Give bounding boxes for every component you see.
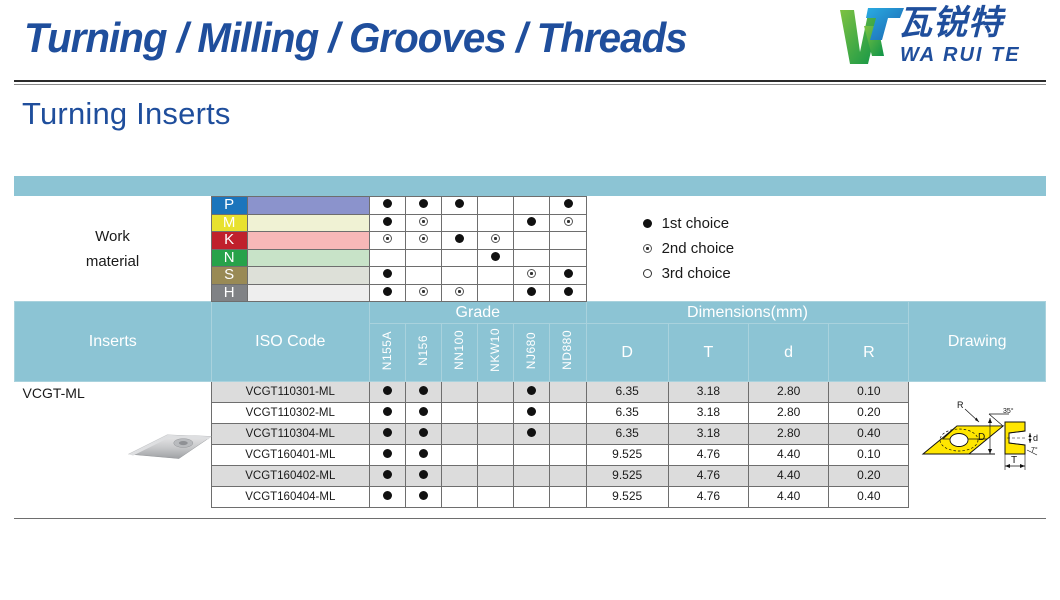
wm-N-N156 <box>406 249 442 267</box>
cell-dim-R: 0.10 <box>829 382 909 403</box>
cell-dim-T: 4.76 <box>668 445 748 466</box>
wm-S-N155A <box>370 267 406 285</box>
cell-grade-ND880 <box>550 403 586 424</box>
wm-P-NJ680 <box>514 197 550 215</box>
col-header-grade-NN100: NN100 <box>442 324 478 382</box>
wm-P-NKW10 <box>478 197 514 215</box>
wm-H-NN100 <box>442 284 478 302</box>
legend-item-2nd: 2nd choice <box>643 236 1046 261</box>
legend-2nd-icon <box>643 244 652 253</box>
cell-grade-NJ680 <box>514 445 550 466</box>
cell-iso-code: VCGT110304-ML <box>211 424 369 445</box>
wm-K-N155A <box>370 232 406 250</box>
cell-dim-d: 4.40 <box>749 487 829 508</box>
col-header-grade-NKW10: NKW10 <box>478 324 514 382</box>
cell-dim-R: 0.20 <box>829 403 909 424</box>
page-title: Turning Inserts <box>22 96 231 132</box>
cell-grade-N155A <box>370 466 406 487</box>
material-swatch-S <box>247 267 369 285</box>
table-top-band <box>14 176 1046 196</box>
wm-S-ND880 <box>550 267 586 285</box>
cell-dim-D: 6.35 <box>586 424 668 445</box>
cell-grade-N156 <box>406 487 442 508</box>
cell-dim-R: 0.40 <box>829 424 909 445</box>
wm-S-NN100 <box>442 267 478 285</box>
material-code-M: M <box>211 214 247 232</box>
cell-dim-D: 6.35 <box>586 382 668 403</box>
cell-grade-NN100 <box>442 445 478 466</box>
wm-M-N156 <box>406 214 442 232</box>
cell-grade-ND880 <box>550 382 586 403</box>
insert-photo-icon <box>125 429 215 463</box>
wm-K-NKW10 <box>478 232 514 250</box>
cell-dim-D: 9.525 <box>586 487 668 508</box>
wm-N-N155A <box>370 249 406 267</box>
col-header-dim-D: D <box>586 324 668 382</box>
wm-P-N156 <box>406 197 442 215</box>
cell-grade-N155A <box>370 487 406 508</box>
cell-dim-T: 3.18 <box>668 382 748 403</box>
cell-grade-NN100 <box>442 403 478 424</box>
logo-mark-icon <box>838 6 906 68</box>
wm-M-N155A <box>370 214 406 232</box>
cell-dim-T: 4.76 <box>668 466 748 487</box>
table-bottom-rule <box>14 518 1046 519</box>
cell-grade-NKW10 <box>478 487 514 508</box>
wm-M-NKW10 <box>478 214 514 232</box>
insert-family-label: VCGT-ML <box>23 386 85 401</box>
cell-dim-D: 9.525 <box>586 466 668 487</box>
legend-item-3rd: 3rd choice <box>643 261 1046 286</box>
header-title: Turning / Milling / Grooves / Threads <box>24 14 687 62</box>
col-header-dim-d: d <box>749 324 829 382</box>
material-code-P: P <box>211 197 247 215</box>
col-header-inserts: Inserts <box>15 302 212 382</box>
wm-N-NKW10 <box>478 249 514 267</box>
legend-1st-label: 1st choice <box>662 216 730 233</box>
cell-dim-T: 3.18 <box>668 424 748 445</box>
col-header-grade-NJ680: NJ680 <box>514 324 550 382</box>
cell-iso-code: VCGT160401-ML <box>211 445 369 466</box>
cell-dim-d: 4.40 <box>749 466 829 487</box>
cell-iso-code: VCGT160402-ML <box>211 466 369 487</box>
wm-S-NKW10 <box>478 267 514 285</box>
cell-grade-ND880 <box>550 445 586 466</box>
wm-K-NN100 <box>442 232 478 250</box>
wm-S-N156 <box>406 267 442 285</box>
cell-grade-N156 <box>406 382 442 403</box>
material-swatch-H <box>247 284 369 302</box>
cell-grade-NN100 <box>442 382 478 403</box>
work-material-row-P: Work material P 1st choice 2nd choice 3r… <box>15 197 1046 215</box>
legend-3rd-icon <box>643 269 652 278</box>
work-material-label: Work material <box>15 197 212 302</box>
material-code-K: K <box>211 232 247 250</box>
waruite-logo: 瓦锐特 WA RUI TE <box>838 6 1050 74</box>
cell-grade-NJ680 <box>514 466 550 487</box>
svg-text:35°: 35° <box>1003 407 1014 415</box>
page-header: Turning / Milling / Grooves / Threads 瓦锐… <box>0 0 1060 88</box>
wm-K-N156 <box>406 232 442 250</box>
logo-chinese-text: 瓦锐特 <box>898 5 1003 41</box>
cell-grade-NKW10 <box>478 424 514 445</box>
cell-grade-NJ680 <box>514 487 550 508</box>
header-divider <box>14 80 1046 82</box>
cell-dim-T: 4.76 <box>668 487 748 508</box>
col-header-grade-N156: N156 <box>406 324 442 382</box>
col-header-grade: Grade <box>370 302 587 324</box>
cell-dim-R: 0.10 <box>829 445 909 466</box>
cell-grade-NKW10 <box>478 466 514 487</box>
cell-grade-NN100 <box>442 487 478 508</box>
cell-dim-R: 0.40 <box>829 487 909 508</box>
material-swatch-M <box>247 214 369 232</box>
cell-grade-N155A <box>370 445 406 466</box>
cell-grade-N156 <box>406 445 442 466</box>
cell-grade-NKW10 <box>478 445 514 466</box>
table-row: VCGT-ML VCGT110301-ML <box>15 382 1046 403</box>
cell-dim-R: 0.20 <box>829 466 909 487</box>
col-header-grade-N155A: N155A <box>370 324 406 382</box>
cell-grade-NKW10 <box>478 403 514 424</box>
wm-K-ND880 <box>550 232 586 250</box>
work-material-label-line2: material <box>15 249 211 274</box>
cell-grade-NN100 <box>442 424 478 445</box>
table-body: VCGT-ML VCGT110301-ML <box>15 382 1046 508</box>
svg-text:R: R <box>957 400 964 410</box>
material-swatch-K <box>247 232 369 250</box>
cell-grade-NJ680 <box>514 424 550 445</box>
wm-H-NJ680 <box>514 284 550 302</box>
drawing-cell: R 35° D <box>909 382 1046 508</box>
cell-grade-N155A <box>370 403 406 424</box>
legend-1st-icon <box>643 219 652 228</box>
header-row-group: Inserts ISO Code Grade Dimensions(mm) Dr… <box>15 302 1046 324</box>
cell-iso-code: VCGT110302-ML <box>211 403 369 424</box>
wm-P-N155A <box>370 197 406 215</box>
cell-grade-ND880 <box>550 487 586 508</box>
work-material-section: Work material P 1st choice 2nd choice 3r… <box>15 197 1046 302</box>
cell-grade-N156 <box>406 403 442 424</box>
col-header-drawing: Drawing <box>909 302 1046 382</box>
cell-dim-d: 2.80 <box>749 424 829 445</box>
cell-grade-NJ680 <box>514 403 550 424</box>
cell-dim-D: 9.525 <box>586 445 668 466</box>
wm-P-ND880 <box>550 197 586 215</box>
legend-2nd-label: 2nd choice <box>662 241 735 258</box>
material-swatch-P <box>247 197 369 215</box>
col-header-dimensions: Dimensions(mm) <box>586 302 909 324</box>
turning-inserts-table: Work material P 1st choice 2nd choice 3r… <box>14 196 1046 508</box>
legend-3rd-label: 3rd choice <box>662 266 731 283</box>
cell-grade-N155A <box>370 424 406 445</box>
cell-dim-d: 2.80 <box>749 382 829 403</box>
cell-grade-NN100 <box>442 466 478 487</box>
wm-H-NKW10 <box>478 284 514 302</box>
spec-table-container: Work material P 1st choice 2nd choice 3r… <box>14 176 1046 508</box>
insert-technical-drawing-icon: R 35° D <box>917 392 1043 486</box>
wm-M-NJ680 <box>514 214 550 232</box>
wm-N-ND880 <box>550 249 586 267</box>
cell-grade-NKW10 <box>478 382 514 403</box>
choice-legend: 1st choice 2nd choice 3rd choice <box>586 197 1045 302</box>
svg-text:D: D <box>978 432 985 443</box>
cell-dim-d: 4.40 <box>749 445 829 466</box>
col-header-grade-ND880: ND880 <box>550 324 586 382</box>
cell-grade-N156 <box>406 466 442 487</box>
col-header-iso-code: ISO Code <box>211 302 369 382</box>
material-code-N: N <box>211 249 247 267</box>
svg-text:T: T <box>1011 455 1017 466</box>
wm-K-NJ680 <box>514 232 550 250</box>
cell-grade-NJ680 <box>514 382 550 403</box>
material-code-S: S <box>211 267 247 285</box>
wm-H-ND880 <box>550 284 586 302</box>
insert-family-cell: VCGT-ML <box>15 382 212 508</box>
cell-iso-code: VCGT110301-ML <box>211 382 369 403</box>
legend-item-1st: 1st choice <box>643 211 1046 236</box>
material-code-H: H <box>211 284 247 302</box>
cell-grade-N156 <box>406 424 442 445</box>
table-header-section: Inserts ISO Code Grade Dimensions(mm) Dr… <box>15 302 1046 382</box>
wm-M-ND880 <box>550 214 586 232</box>
cell-dim-D: 6.35 <box>586 403 668 424</box>
wm-N-NN100 <box>442 249 478 267</box>
material-swatch-N <box>247 249 369 267</box>
wm-S-NJ680 <box>514 267 550 285</box>
wm-M-NN100 <box>442 214 478 232</box>
svg-text:7°: 7° <box>1031 446 1038 454</box>
cell-grade-N155A <box>370 382 406 403</box>
wm-H-N156 <box>406 284 442 302</box>
svg-text:d: d <box>1033 433 1038 443</box>
col-header-dim-T: T <box>668 324 748 382</box>
cell-grade-ND880 <box>550 466 586 487</box>
cell-dim-d: 2.80 <box>749 403 829 424</box>
cell-iso-code: VCGT160404-ML <box>211 487 369 508</box>
work-material-label-line1: Work <box>15 224 211 249</box>
col-header-dim-R: R <box>829 324 909 382</box>
cell-dim-T: 3.18 <box>668 403 748 424</box>
wm-N-NJ680 <box>514 249 550 267</box>
wm-P-NN100 <box>442 197 478 215</box>
wm-H-N155A <box>370 284 406 302</box>
header-divider-thin <box>14 84 1046 85</box>
cell-grade-ND880 <box>550 424 586 445</box>
logo-english-text: WA RUI TE <box>900 44 1021 66</box>
